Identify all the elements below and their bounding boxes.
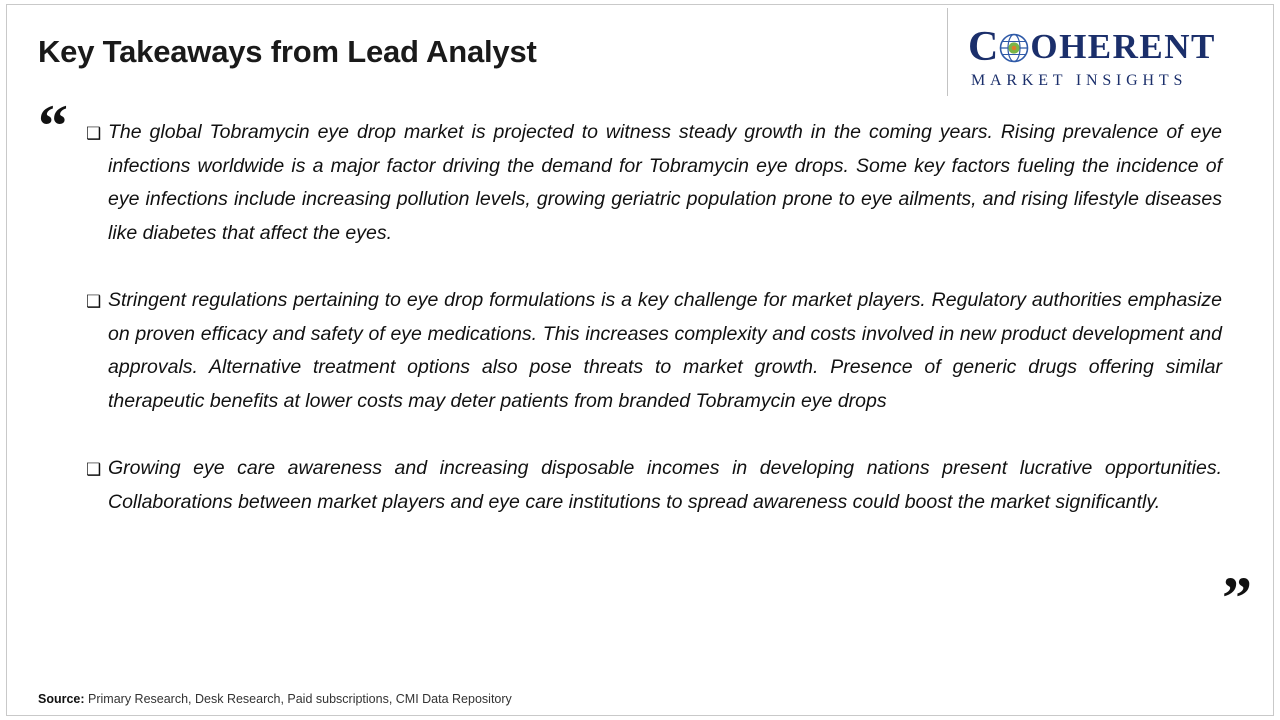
source-text: Primary Research, Desk Research, Paid su… xyxy=(85,692,512,706)
source-label: Source: xyxy=(38,692,85,706)
logo-word-coherent: OHERENT xyxy=(1030,27,1216,67)
quote-close-icon: ” xyxy=(1222,568,1249,628)
list-item-text: Stringent regulations pertaining to eye … xyxy=(108,289,1222,412)
bullet-marker-icon: ❑ xyxy=(86,285,101,318)
coherent-market-insights-logo: C OHERENT MARKET INSIGHTS xyxy=(968,26,1260,96)
source-line: Source: Primary Research, Desk Research,… xyxy=(38,692,512,706)
list-item: ❑ The global Tobramycin eye drop market … xyxy=(86,116,1222,250)
list-item-text: The global Tobramycin eye drop market is… xyxy=(108,121,1222,244)
list-item-text: Growing eye care awareness and increasin… xyxy=(108,457,1222,513)
logo-letter-c: C xyxy=(968,27,998,67)
list-item: ❑ Stringent regulations pertaining to ey… xyxy=(86,284,1222,418)
logo-tagline: MARKET INSIGHTS xyxy=(968,72,1260,90)
bullet-marker-icon: ❑ xyxy=(86,117,101,150)
takeaways-list: ❑ The global Tobramycin eye drop market … xyxy=(86,116,1202,519)
header-divider xyxy=(947,8,948,96)
bullet-marker-icon: ❑ xyxy=(86,453,101,486)
globe-icon xyxy=(999,33,1029,63)
quote-open-icon: “ xyxy=(38,96,65,156)
page-title: Key Takeaways from Lead Analyst xyxy=(38,34,537,70)
slide: Key Takeaways from Lead Analyst C OHEREN… xyxy=(0,0,1280,720)
logo-wordmark: C OHERENT xyxy=(968,26,1260,68)
list-item: ❑ Growing eye care awareness and increas… xyxy=(86,452,1222,519)
